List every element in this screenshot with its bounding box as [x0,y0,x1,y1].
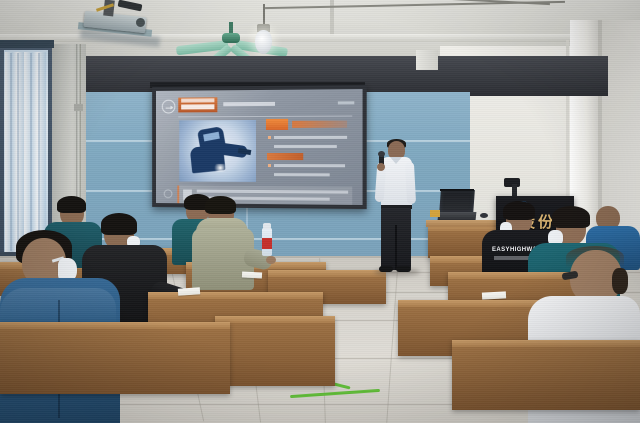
student-desk [215,316,335,386]
presenter-hand [377,163,385,171]
arrow-circle-icon [162,100,176,114]
laptop-screen [439,190,475,214]
laptop-keyboard [438,212,477,220]
microphone-head-icon [378,151,385,157]
water-bottle-cap [263,223,271,229]
attendee-hair [101,213,137,235]
attendee-hand [266,256,276,264]
slide-header-subtitle [223,102,275,106]
slide-bullet-line [274,136,347,139]
presenter-shoe-left [379,266,393,272]
attendee-hair-side [612,268,628,294]
presenter-leg-split [395,225,397,270]
slide-header [162,96,357,113]
desk-object [430,210,440,217]
presentation-slide [156,89,363,205]
paper-handout [242,271,262,278]
ceiling-fan-icon [222,33,240,43]
slide-highlight-bar [267,153,303,160]
presenter-shoe-right [396,266,411,272]
slide-bullet-line [274,164,345,167]
computer-mouse [480,213,488,218]
water-bottle-label [262,238,272,249]
paper-handout [482,291,506,299]
slide-bullet-line [274,145,337,148]
classroom-photo: 股份 E [0,0,640,423]
attendee-hair [552,206,590,228]
pillar-top [416,50,438,70]
attendee-hair [503,201,535,220]
student-desk [452,340,640,410]
attendee-hair [205,196,236,214]
slide-header-tag [178,97,217,112]
lamp-wire [263,4,265,26]
welder-illustration [179,120,256,182]
curtain-right [24,52,46,252]
student-desk [0,322,230,394]
slide-corner-icon [164,189,173,198]
slide-bullet-line [274,173,330,176]
bullet-dot-icon [268,136,271,139]
curtain-left [5,52,25,252]
light-bulb-icon [255,30,272,54]
slide-page-number [338,101,354,104]
projection-screen [152,85,367,209]
slide-title [266,119,288,130]
attendee-hair [57,196,86,213]
laptop-lid-edge [440,189,474,191]
window-header [0,40,54,48]
pipe-joint [74,104,83,111]
bullet-dot-icon [268,164,271,167]
slide-title-underline [292,121,347,128]
